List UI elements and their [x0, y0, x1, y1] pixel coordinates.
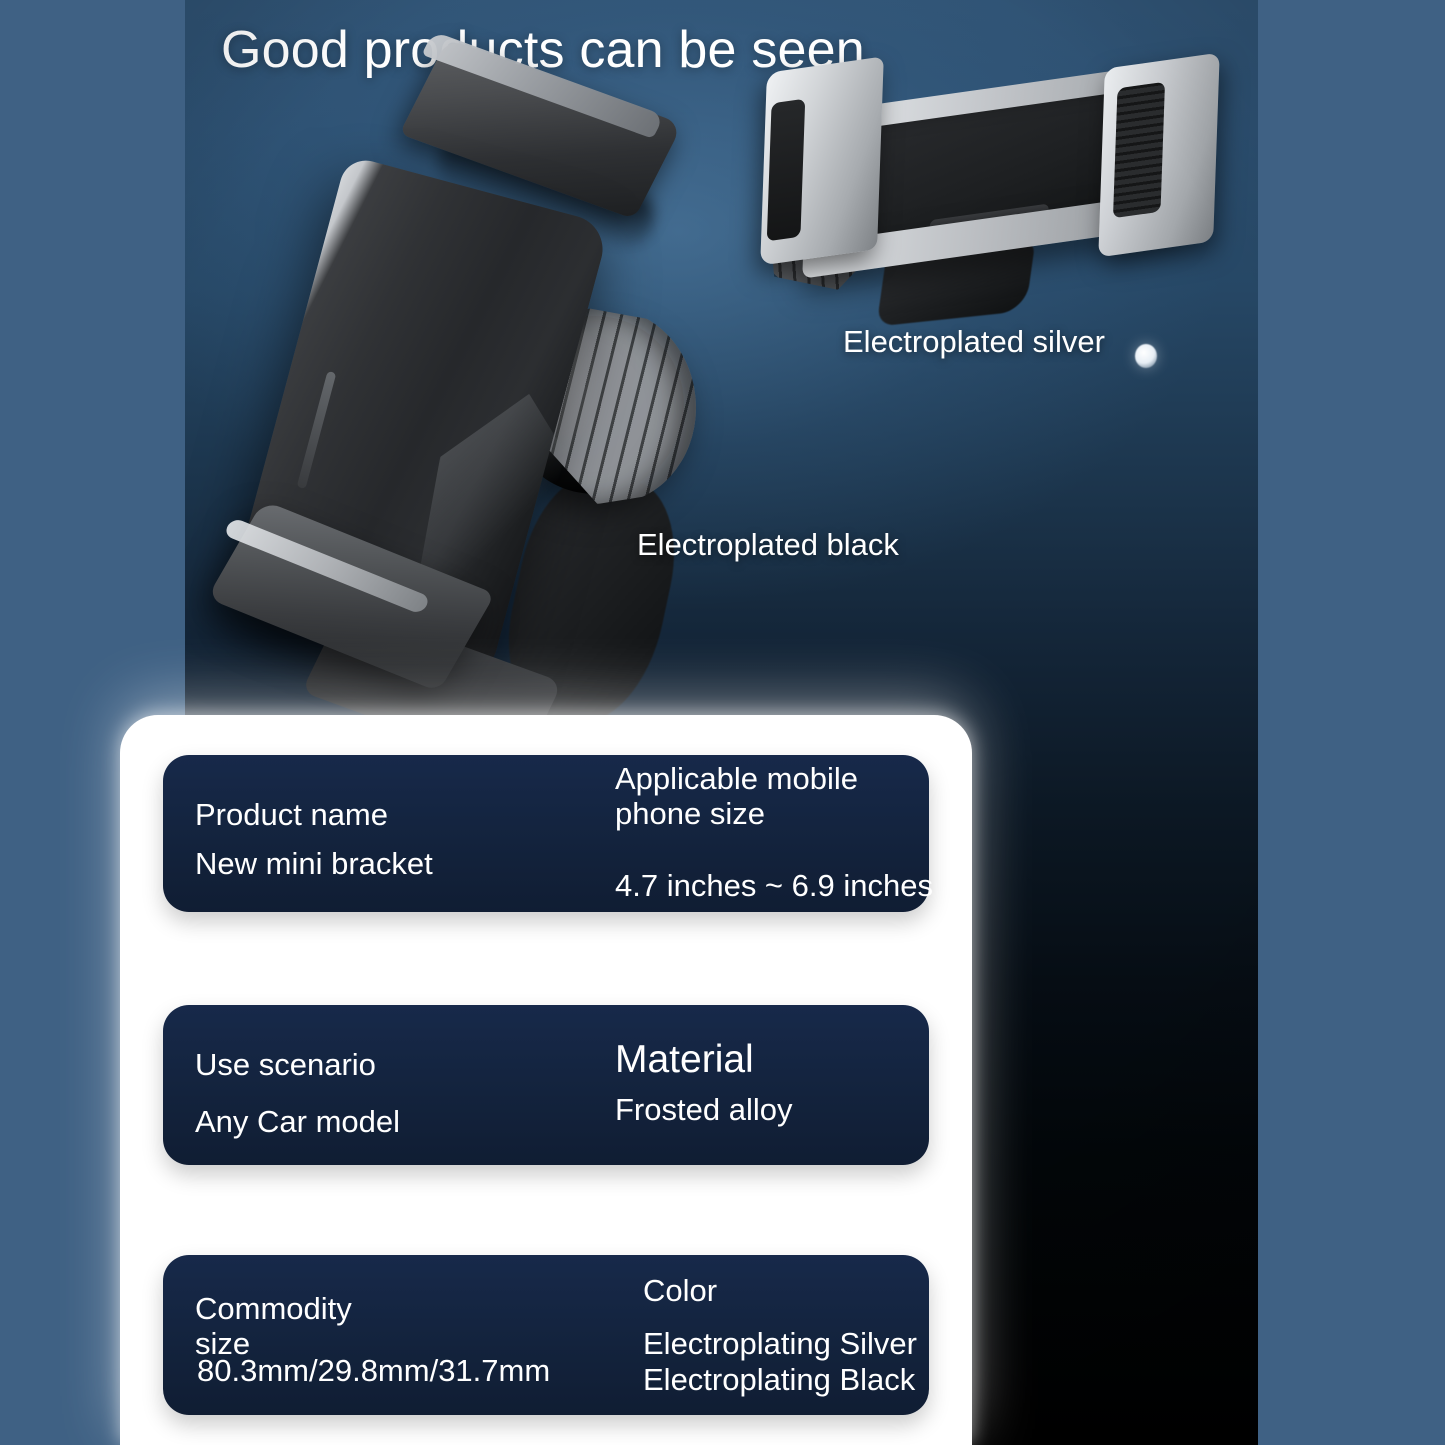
spec-card-commodity-size: Commodity size 80.3mm/29.8mm/31.7mm Colo… — [163, 1255, 929, 1415]
spec-panel: Product name New mini bracket Applicable… — [120, 715, 972, 1445]
spec-cell-color: Color Electroplating Silver Electroplati… — [643, 1273, 917, 1397]
spec-value: Any Car model — [195, 1104, 400, 1139]
bokeh-light-dot — [1135, 344, 1157, 368]
product-image-silver-holder — [753, 62, 1253, 322]
spec-value-black: Electroplating Black — [643, 1362, 917, 1397]
spec-cell-phone-size: Applicable mobile phone size 4.7 inches … — [615, 761, 933, 903]
spec-cell-use-scenario: Use scenario Any Car model — [195, 1047, 400, 1140]
spec-label: Material — [615, 1039, 792, 1082]
product-detail-poster: Good products can be seen — [0, 0, 1445, 1445]
spec-label: Commodity size — [195, 1291, 365, 1362]
product-image-black-holder — [220, 70, 780, 730]
spec-label: Applicable mobile phone size — [615, 761, 933, 832]
spec-cell-commodity-size: Commodity size 80.3mm/29.8mm/31.7mm — [195, 1291, 365, 1362]
caption-electroplated-silver: Electroplated silver — [843, 324, 1105, 360]
spec-cell-product-name: Product name New mini bracket — [195, 797, 433, 882]
spec-label: Color — [643, 1273, 917, 1308]
spec-label: Product name — [195, 797, 433, 832]
spec-value-silver: Electroplating Silver — [643, 1326, 917, 1361]
spec-value: Frosted alloy — [615, 1092, 792, 1127]
spec-value: 80.3mm/29.8mm/31.7mm — [197, 1353, 550, 1388]
spec-card-product-name: Product name New mini bracket Applicable… — [163, 755, 929, 912]
caption-electroplated-black: Electroplated black — [637, 527, 899, 563]
spec-card-use-scenario: Use scenario Any Car model Material Fros… — [163, 1005, 929, 1165]
spec-value: New mini bracket — [195, 846, 433, 881]
silver-holder-left-grip-pad — [767, 99, 805, 242]
spec-value: 4.7 inches ~ 6.9 inches — [615, 868, 933, 903]
spec-label: Use scenario — [195, 1047, 400, 1082]
silver-holder-right-grip-pad — [1113, 82, 1165, 219]
spec-cell-material: Material Frosted alloy — [615, 1039, 792, 1127]
